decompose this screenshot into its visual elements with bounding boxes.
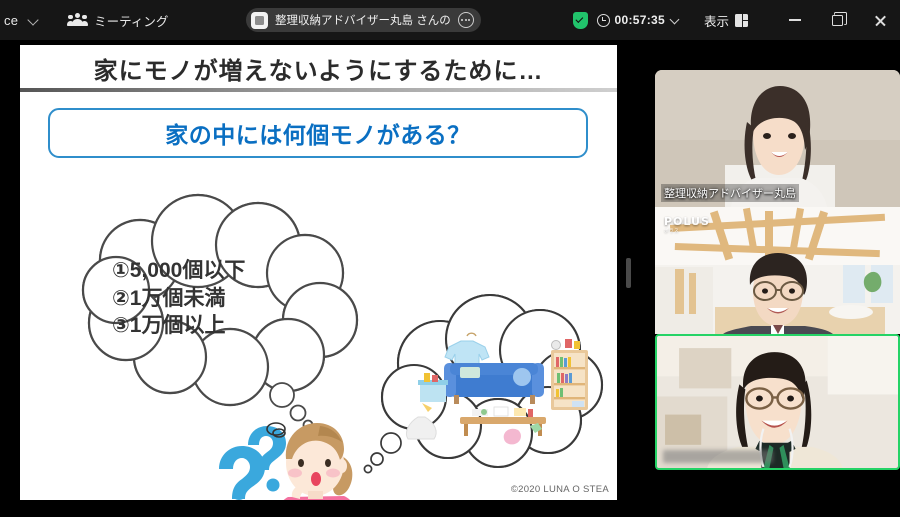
video-feed-3 bbox=[657, 336, 898, 468]
polus-watermark: POLUS ポラス bbox=[664, 215, 710, 234]
meeting-timer[interactable]: 00:57:35 bbox=[597, 13, 682, 27]
minimize-button[interactable] bbox=[774, 0, 816, 40]
girl-character bbox=[219, 423, 362, 500]
participant-video-panel: 整理収納アドバイザー丸島 bbox=[655, 70, 900, 470]
participant-tile-1[interactable]: 整理収納アドバイザー丸島 bbox=[655, 70, 900, 207]
answer-option-1: ①5,000個以下 bbox=[112, 257, 245, 285]
restore-button[interactable] bbox=[816, 0, 858, 40]
clock-icon bbox=[597, 14, 610, 27]
people-icon bbox=[68, 13, 87, 28]
chevron-down-icon[interactable] bbox=[670, 14, 682, 26]
participant-name-label-1: 整理収納アドバイザー丸島 bbox=[661, 184, 799, 202]
view-layout-button[interactable]: 表示 bbox=[704, 11, 748, 30]
copyright-label: ©2020 LUNA O STEA bbox=[511, 484, 609, 495]
layout-grid-icon bbox=[735, 14, 748, 27]
more-options-icon[interactable] bbox=[458, 12, 474, 28]
title-bar: ce ミーティング 整理収納アドバイザー丸島 さんの 00:57:35 表示 bbox=[0, 0, 900, 40]
meeting-tab[interactable]: ミーティング bbox=[68, 11, 168, 30]
participant-tile-2[interactable]: POLUS ポラス bbox=[655, 207, 900, 334]
restore-window-icon bbox=[832, 15, 843, 26]
topbar-right-group: 00:57:35 表示 bbox=[573, 0, 900, 40]
screen-share-indicator[interactable]: 整理収納アドバイザー丸島 さんの bbox=[246, 8, 481, 32]
participant-tile-3[interactable] bbox=[655, 334, 900, 470]
answer-option-2: ②1万個未満 bbox=[112, 285, 245, 313]
topbar-left-group: ce ミーティング bbox=[0, 11, 168, 30]
shield-check-icon[interactable] bbox=[573, 12, 588, 29]
chevron-down-icon[interactable] bbox=[27, 13, 41, 27]
answer-option-3: ③1万個以上 bbox=[112, 312, 245, 340]
close-button[interactable] bbox=[858, 0, 900, 40]
organization-label[interactable]: ce bbox=[4, 13, 18, 28]
drag-grip-icon bbox=[626, 258, 631, 288]
minimize-icon bbox=[789, 19, 801, 21]
answer-options: ①5,000個以下 ②1万個未満 ③1万個以上 bbox=[112, 257, 245, 340]
meeting-label: ミーティング bbox=[94, 11, 168, 30]
slide-illustration bbox=[20, 45, 617, 500]
participant-name-label-3 bbox=[663, 450, 773, 463]
shared-slide: 家にモノが増えないようにするために… 家の中には何個モノがある？ bbox=[20, 45, 617, 500]
panel-resize-handle[interactable] bbox=[617, 45, 640, 500]
timer-value: 00:57:35 bbox=[615, 13, 665, 27]
close-icon bbox=[874, 15, 885, 26]
share-source-label: 整理収納アドバイザー丸島 さんの bbox=[275, 12, 451, 28]
view-label: 表示 bbox=[704, 11, 729, 30]
app-window-icon bbox=[251, 12, 268, 29]
